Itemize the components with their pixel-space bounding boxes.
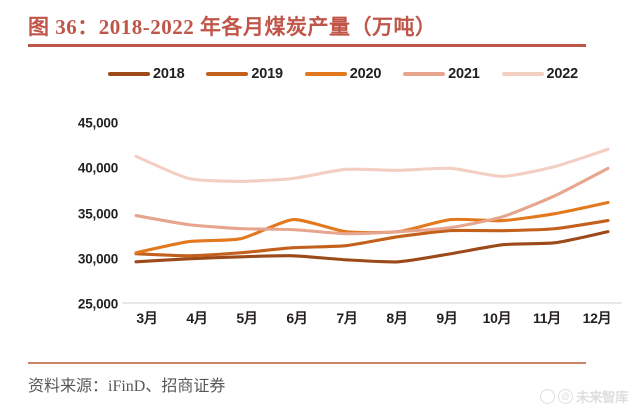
chart-legend: 2018 2019 2020 2021 2022 [108, 66, 578, 82]
watermark-text: 未来智库 [576, 386, 628, 406]
series-line-2021 [136, 168, 608, 233]
legend-line-icon [403, 72, 445, 76]
series-line-2018 [136, 232, 608, 262]
legend-item-2021[interactable]: 2021 [403, 66, 479, 82]
legend-item-2019[interactable]: 2019 [206, 66, 282, 82]
y-tick-label: 35,000 [78, 207, 118, 222]
source-note: 资料来源：iFinD、招商证券 [28, 372, 225, 396]
figure-title-block: 图 36：2018-2022 年各月煤炭产量（万吨） [28, 14, 612, 47]
line-chart-canvas [122, 96, 622, 316]
y-tick-label: 30,000 [78, 252, 118, 267]
footer-divider [28, 362, 586, 364]
plot-area: 45,000 40,000 35,000 30,000 25,000 3月 4月… [0, 96, 640, 346]
y-tick-label: 45,000 [78, 116, 118, 131]
legend-label: 2018 [153, 66, 184, 82]
legend-label: 2022 [547, 66, 578, 82]
x-tick-label: 3月 [122, 308, 172, 328]
legend-line-icon [108, 72, 150, 76]
x-axis: 3月 4月 5月 6月 7月 8月 9月 10月 11月 12月 [122, 308, 622, 328]
legend-label: 2019 [251, 66, 282, 82]
y-axis: 45,000 40,000 35,000 30,000 25,000 [40, 96, 118, 316]
x-tick-label: 6月 [272, 308, 322, 328]
x-tick-label: 11月 [522, 308, 572, 328]
at-sign-icon: @ [558, 389, 573, 404]
page-title: 图 36：2018-2022 年各月煤炭产量（万吨） [28, 14, 612, 40]
legend-item-2020[interactable]: 2020 [305, 66, 381, 82]
y-tick-label: 25,000 [78, 297, 118, 312]
x-tick-label: 7月 [322, 308, 372, 328]
x-tick-label: 12月 [572, 308, 622, 328]
legend-label: 2021 [448, 66, 479, 82]
legend-item-2018[interactable]: 2018 [108, 66, 184, 82]
legend-line-icon [305, 72, 347, 76]
x-tick-label: 8月 [372, 308, 422, 328]
x-tick-label: 9月 [422, 308, 472, 328]
x-tick-label: 4月 [172, 308, 222, 328]
chart-figure: 图 36：2018-2022 年各月煤炭产量（万吨） 2018 2019 202… [0, 0, 640, 411]
series-line-2022 [136, 149, 608, 181]
legend-item-2022[interactable]: 2022 [502, 66, 578, 82]
legend-line-icon [502, 72, 544, 76]
legend-label: 2020 [350, 66, 381, 82]
x-tick-label: 10月 [472, 308, 522, 328]
legend-line-icon [206, 72, 248, 76]
title-divider [28, 44, 586, 47]
watermark: @ 未来智库 [540, 386, 628, 406]
x-tick-label: 5月 [222, 308, 272, 328]
y-tick-label: 40,000 [78, 161, 118, 176]
watermark-logo-icon [540, 389, 555, 404]
